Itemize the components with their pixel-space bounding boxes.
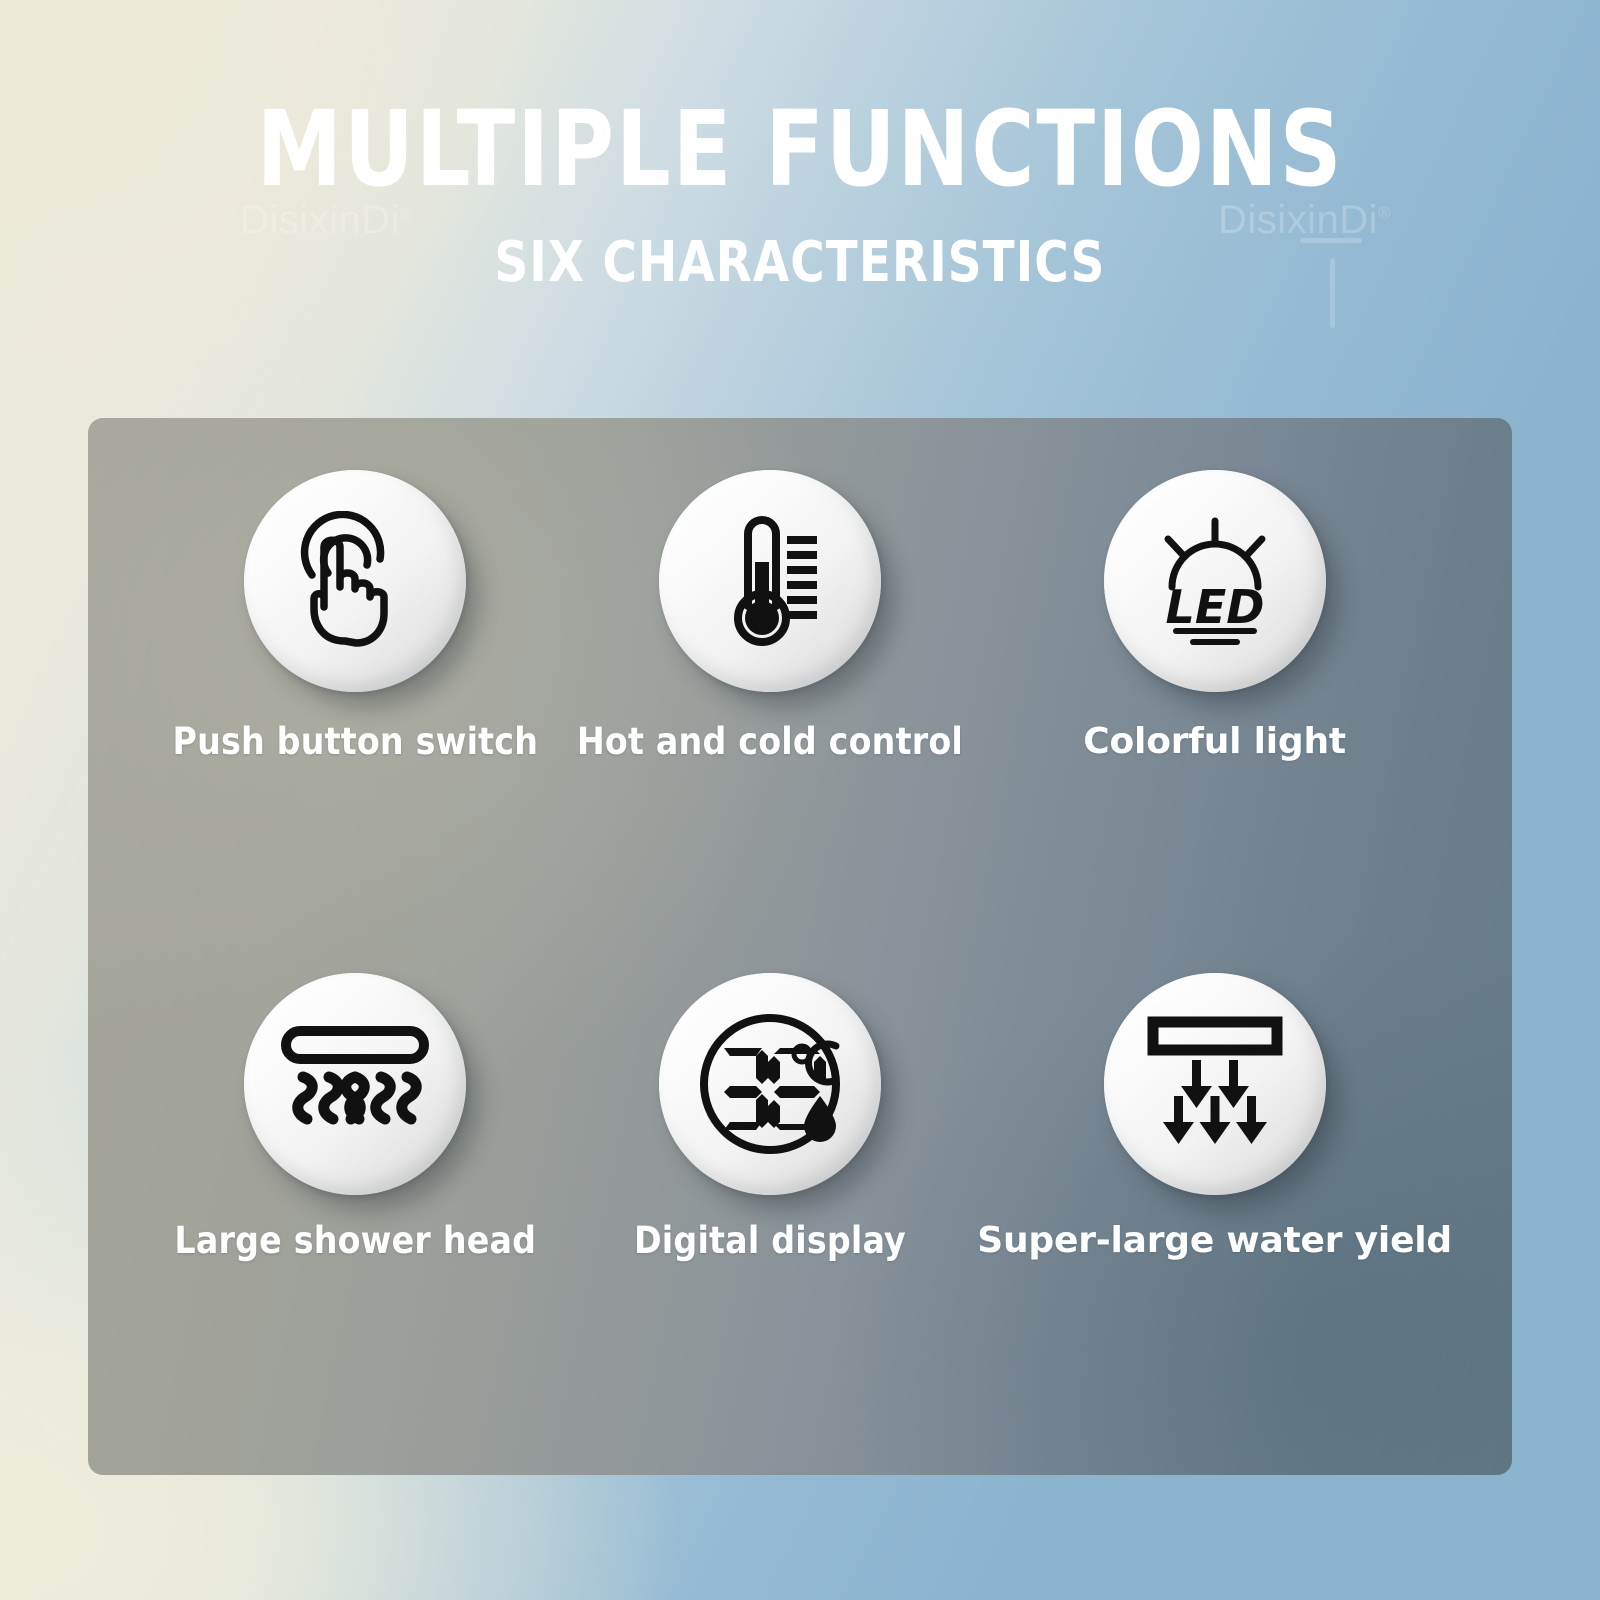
features-panel: Push button switch bbox=[88, 418, 1512, 1475]
page-title: MULTIPLE FUNCTIONS bbox=[64, 96, 1536, 202]
feature-badge[interactable] bbox=[244, 973, 466, 1195]
feature-item-large-shower-head[interactable]: Large shower head bbox=[148, 941, 563, 1412]
feature-item-push-button-switch[interactable]: Push button switch bbox=[148, 470, 563, 941]
feature-badge[interactable] bbox=[659, 973, 881, 1195]
feature-item-super-large-water-yield[interactable]: Super-large water yield bbox=[977, 941, 1452, 1412]
shower-head-icon bbox=[281, 1025, 429, 1143]
touch-gesture-icon bbox=[290, 511, 420, 651]
feature-label: Hot and cold control bbox=[577, 722, 963, 763]
feature-badge[interactable]: LED bbox=[1104, 470, 1326, 692]
feature-label: Colorful light bbox=[1083, 722, 1346, 762]
led-label: LED bbox=[1165, 580, 1264, 634]
feature-label: Super-large water yield bbox=[977, 1221, 1452, 1261]
feature-item-hot-and-cold-control[interactable]: Hot and cold control bbox=[563, 470, 978, 941]
feature-item-colorful-light[interactable]: LED Colorful light bbox=[977, 470, 1452, 941]
features-grid: Push button switch bbox=[88, 418, 1512, 1475]
digital-thermostat-icon bbox=[690, 1004, 850, 1164]
thermometer-icon bbox=[709, 510, 831, 652]
led-lamp-icon: LED bbox=[1148, 515, 1282, 647]
feature-label: Push button switch bbox=[172, 722, 538, 763]
feature-badge[interactable] bbox=[659, 470, 881, 692]
feature-badge[interactable] bbox=[1104, 973, 1326, 1195]
header: MULTIPLE FUNCTIONS SIX CHARACTERISTICS bbox=[0, 96, 1600, 295]
feature-item-digital-display[interactable]: Digital display bbox=[563, 941, 978, 1412]
feature-label: Digital display bbox=[634, 1221, 906, 1262]
feature-badge[interactable] bbox=[244, 470, 466, 692]
page-subtitle: SIX CHARACTERISTICS bbox=[56, 230, 1544, 295]
feature-label: Large shower head bbox=[174, 1221, 536, 1262]
water-flow-arrows-icon bbox=[1147, 1016, 1283, 1152]
